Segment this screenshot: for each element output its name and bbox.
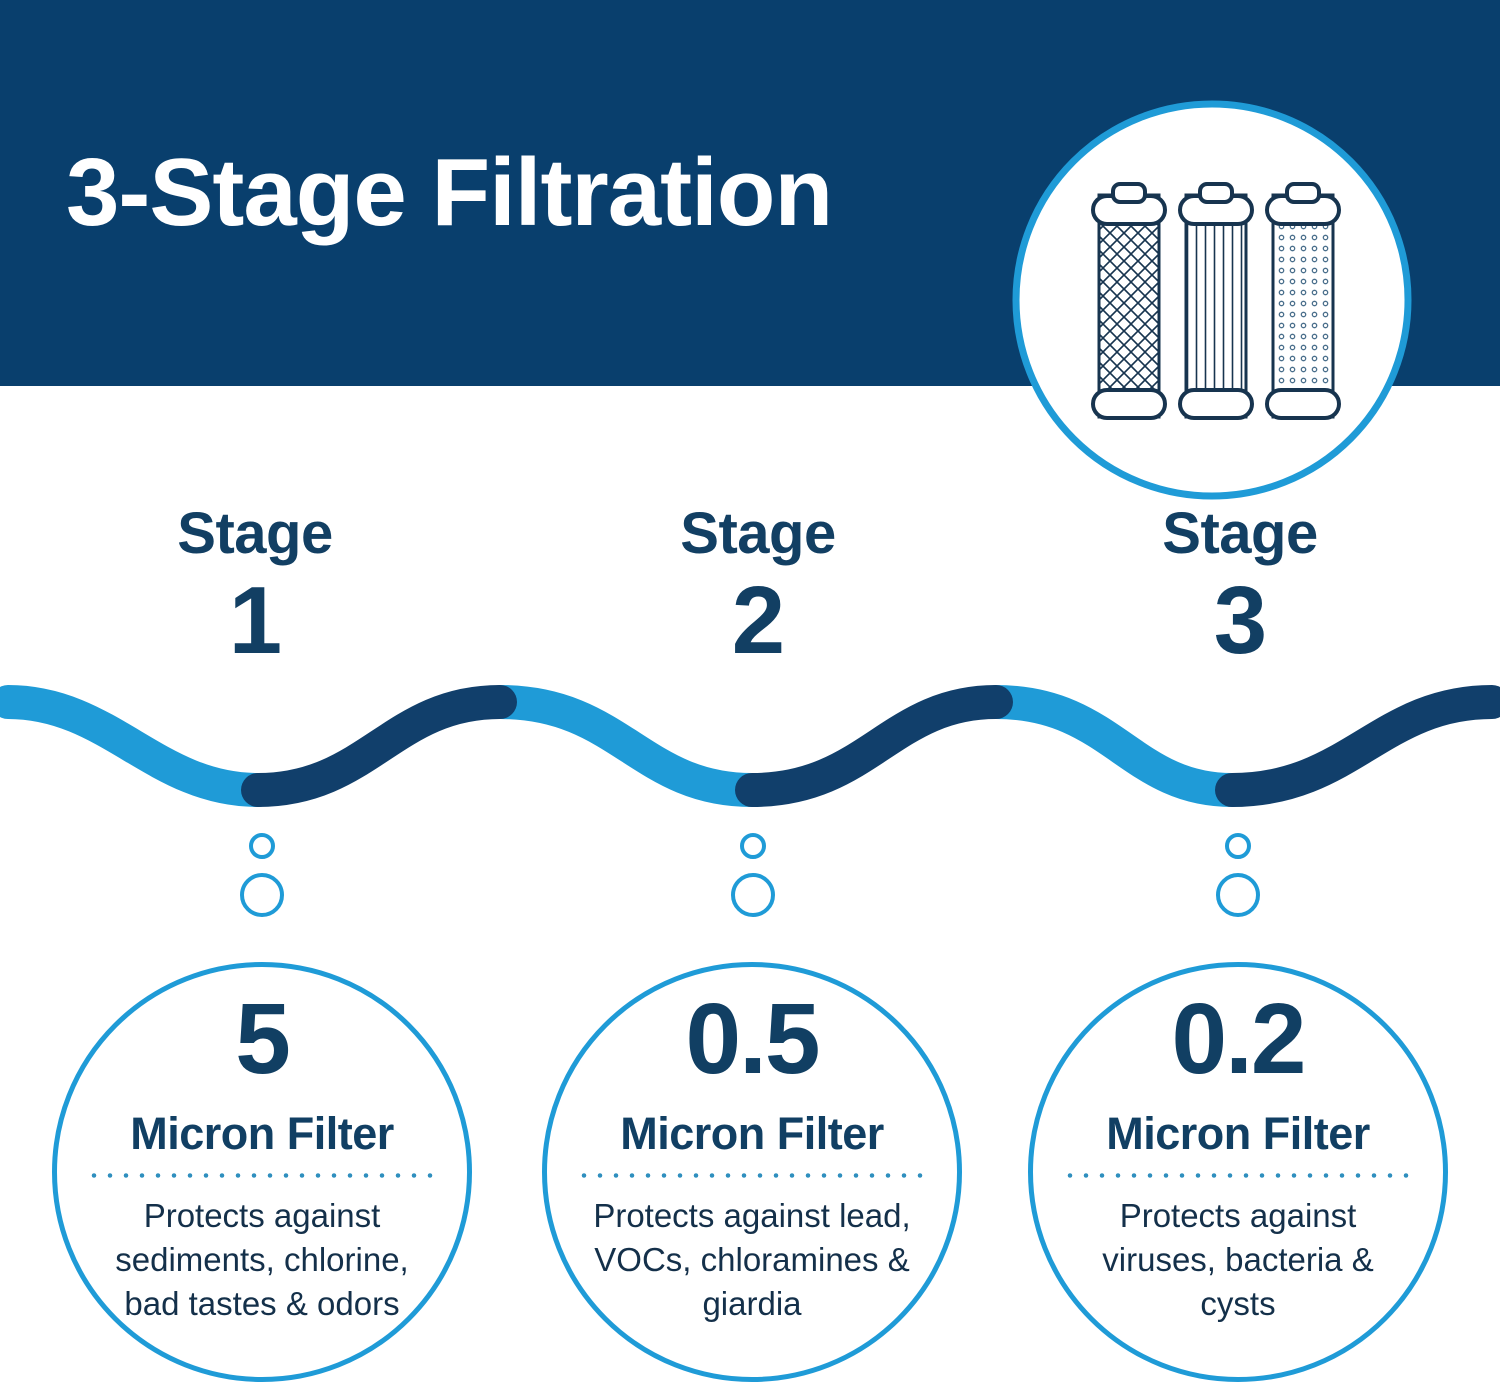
micron-description-1: Protects against sediments, chlorine, ba… <box>87 1194 437 1326</box>
water-wave-divider <box>0 672 1500 812</box>
stage-word-1: Stage <box>75 505 435 563</box>
wave-segment-dark-1 <box>258 702 500 790</box>
micron-label-1: Micron Filter <box>130 1111 394 1156</box>
micron-filter-bubble-1: 5 Micron Filter Protects against sedimen… <box>52 962 472 1382</box>
dotted-divider <box>1062 1173 1414 1178</box>
stage-number-3: 3 <box>1060 569 1420 673</box>
micron-description-2: Protects against lead, VOCs, chloramines… <box>577 1194 927 1326</box>
circle-outline-large-icon <box>240 873 284 917</box>
wave-segment-dark-3 <box>1232 702 1492 790</box>
dotted-divider <box>576 1173 928 1178</box>
micron-label-2: Micron Filter <box>620 1111 884 1156</box>
micron-description-3: Protects against viruses, bacteria & cys… <box>1063 1194 1413 1326</box>
circle-outline-small-icon <box>249 833 275 859</box>
connector-dots-2 <box>718 833 788 917</box>
micron-label-3: Micron Filter <box>1106 1111 1370 1156</box>
stage-number-2: 2 <box>578 569 938 673</box>
micron-filter-bubble-2: 0.5 Micron Filter Protects against lead,… <box>542 962 962 1382</box>
micron-filter-bubble-3: 0.2 Micron Filter Protects against virus… <box>1028 962 1448 1382</box>
stage-word-3: Stage <box>1060 505 1420 563</box>
stage-label-1: Stage 1 <box>75 505 435 673</box>
wave-segment-light-2 <box>500 702 752 790</box>
stage-word-2: Stage <box>578 505 938 563</box>
stage-number-1: 1 <box>75 569 435 673</box>
stage-label-2: Stage 2 <box>578 505 938 673</box>
wave-segment-light-1 <box>8 702 258 790</box>
wave-segment-light-3 <box>996 702 1232 790</box>
circle-outline-small-icon <box>740 833 766 859</box>
connector-dots-3 <box>1203 833 1273 917</box>
micron-value-2: 0.5 <box>685 989 818 1089</box>
circle-outline-large-icon <box>1216 873 1260 917</box>
circle-outline-small-icon <box>1225 833 1251 859</box>
micron-value-3: 0.2 <box>1171 989 1304 1089</box>
connector-dots-1 <box>227 833 297 917</box>
micron-value-1: 5 <box>235 989 289 1089</box>
dotted-divider <box>86 1173 438 1178</box>
circle-outline-large-icon <box>731 873 775 917</box>
page-title: 3-Stage Filtration <box>66 143 832 244</box>
stage-label-3: Stage 3 <box>1060 505 1420 673</box>
wave-segment-dark-2 <box>752 702 996 790</box>
three-filter-cartridges-icon <box>1012 100 1412 500</box>
